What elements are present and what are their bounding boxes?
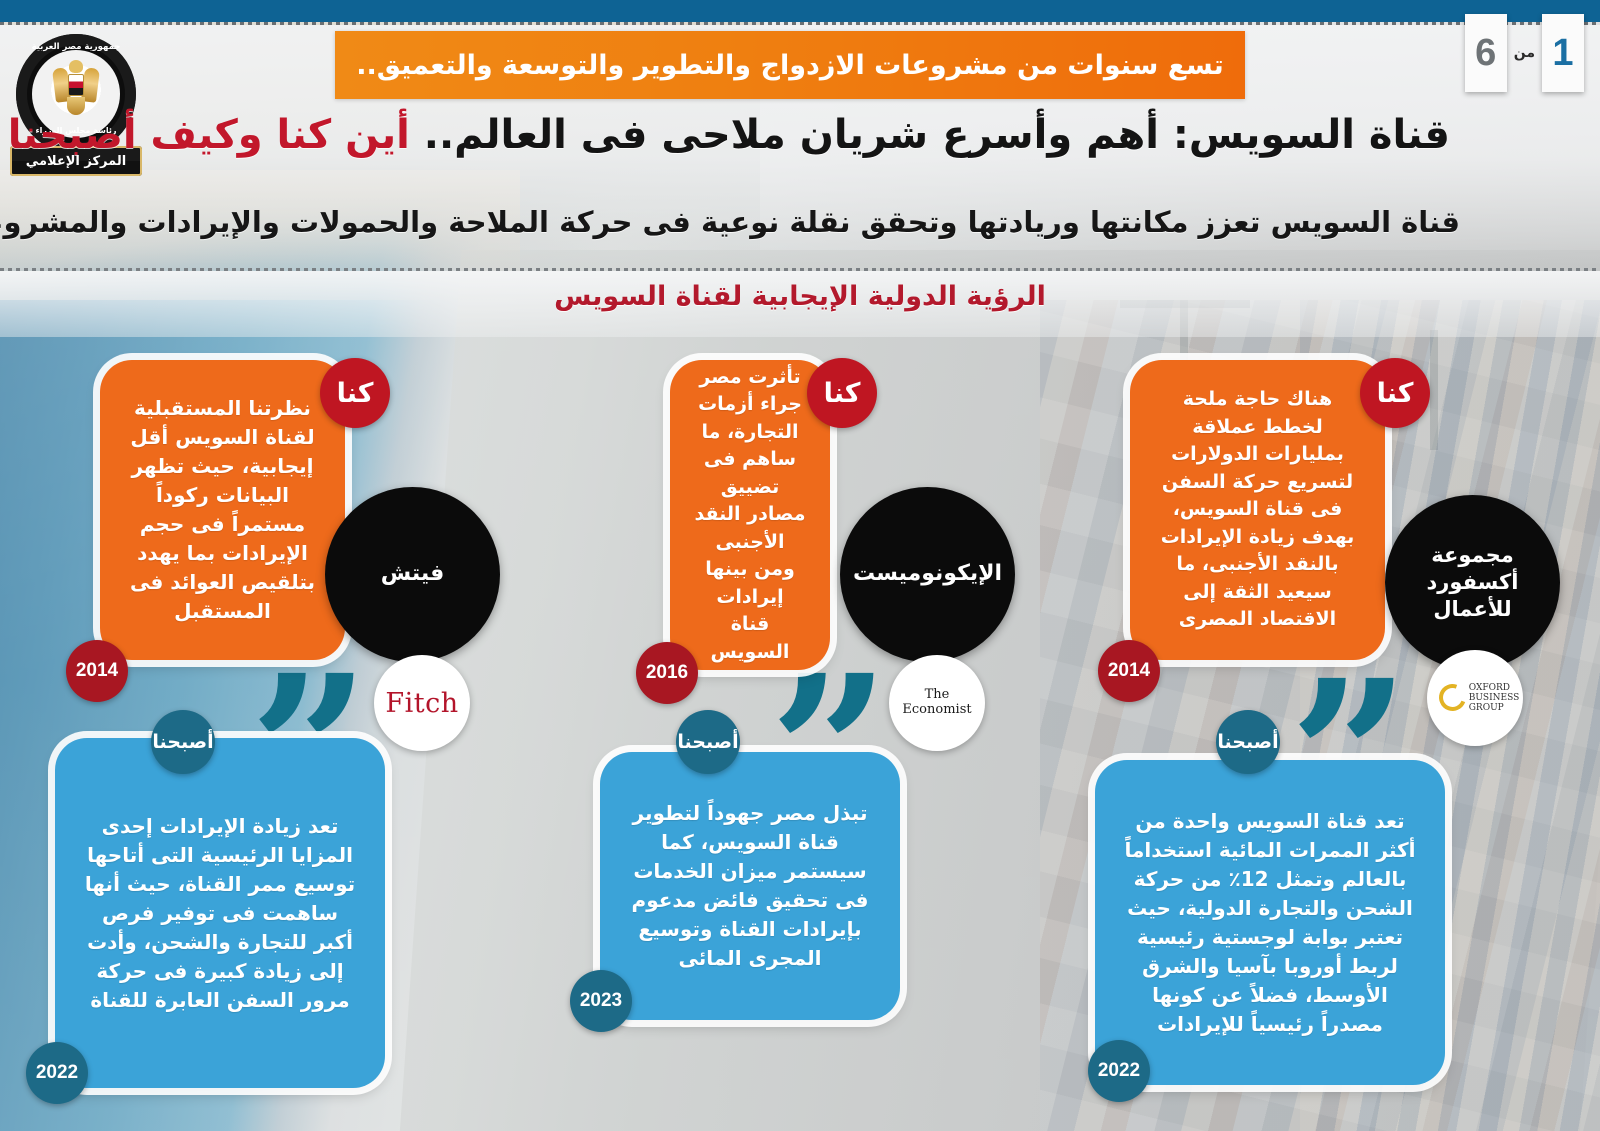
year-before-economist: 2016 [646, 662, 688, 684]
state-pill-before-fitch: كنا [320, 358, 390, 428]
card-before-oxford: هناك حاجة ملحة لخطط عملاقة بمليارات الدو… [1130, 360, 1385, 660]
column-economist: ” الإيكونوميست TheEconomist تأثرت مصر جر… [520, 0, 990, 1131]
card-before-fitch: نظرتنا المستقبلية لقناة السويس أقل إيجاب… [100, 360, 345, 660]
state-pill-after-label-fitch: أصبحنا [152, 731, 213, 753]
state-pill-before-economist: كنا [807, 358, 877, 428]
source-badge-oxford[interactable]: مجموعة أكسفورد للأعمال [1385, 495, 1560, 670]
card-after-text-oxford: تعد قناة السويس واحدة من أكثر الممرات ال… [1119, 807, 1421, 1039]
source-badge-economist[interactable]: الإيكونوميست [840, 487, 1015, 662]
state-pill-before-label-fitch: كنا [337, 378, 374, 409]
card-before-text-fitch: نظرتنا المستقبلية لقناة السويس أقل إيجاب… [124, 394, 321, 626]
logo-bubble-fitch: Fitch [374, 655, 470, 751]
state-pill-after-label-oxford: أصبحنا [1217, 731, 1278, 753]
state-pill-after-fitch: أصبحنا [151, 710, 215, 774]
infographic-page: جمهورية مصر العربية رئاسة مجلس الوزراء ا… [0, 0, 1600, 1131]
card-after-fitch: تعد زيادة الإيرادات إحدى المزايا الرئيسي… [55, 738, 385, 1088]
card-after-oxford: تعد قناة السويس واحدة من أكثر الممرات ال… [1095, 760, 1445, 1085]
year-chip-before-oxford: 2014 [1098, 640, 1160, 702]
oxford-business-group-wordmark: OXFORDBUSINESSGROUP [1439, 683, 1520, 713]
year-chip-before-economist: 2016 [636, 642, 698, 704]
state-pill-before-label-economist: كنا [824, 378, 861, 409]
state-pill-after-label-economist: أصبحنا [677, 731, 738, 753]
year-after-fitch: 2022 [36, 1062, 78, 1084]
card-before-text-economist: تأثرت مصر جراء أزمات التجارة، ما ساهم فى… [694, 364, 806, 667]
year-chip-after-fitch: 2022 [26, 1042, 88, 1104]
column-fitch: ” فيتش Fitch نظرتنا المستقبلية لقناة الس… [10, 0, 480, 1131]
column-oxford: ” مجموعة أكسفورد للأعمال OXFORDBUSINESSG… [1035, 0, 1505, 1131]
state-pill-before-oxford: كنا [1360, 358, 1430, 428]
source-name-oxford: مجموعة أكسفورد للأعمال [1385, 542, 1560, 624]
card-after-economist: تبذل مصر جهوداً لتطوير قناة السويس، كما … [600, 752, 900, 1020]
source-name-economist: الإيكونوميست [843, 560, 1012, 589]
page-current-chip: 1 [1542, 14, 1584, 92]
year-before-fitch: 2014 [76, 660, 118, 682]
fitch-wordmark: Fitch [385, 688, 458, 719]
card-after-text-economist: تبذل مصر جهوداً لتطوير قناة السويس، كما … [624, 799, 876, 973]
logo-bubble-economist: TheEconomist [889, 655, 985, 751]
oxford-ring-icon [1434, 680, 1470, 716]
card-before-text-oxford: هناك حاجة ملحة لخطط عملاقة بمليارات الدو… [1154, 386, 1361, 634]
year-chip-after-oxford: 2022 [1088, 1040, 1150, 1102]
source-badge-fitch[interactable]: فيتش [325, 487, 500, 662]
oxford-text: OXFORDBUSINESSGROUP [1469, 683, 1520, 713]
year-chip-after-economist: 2023 [570, 970, 632, 1032]
state-pill-before-label-oxford: كنا [1377, 378, 1414, 409]
year-chip-before-fitch: 2014 [66, 640, 128, 702]
year-after-oxford: 2022 [1098, 1060, 1140, 1082]
economist-wordmark: TheEconomist [902, 688, 971, 717]
logo-bubble-oxford: OXFORDBUSINESSGROUP [1427, 650, 1523, 746]
state-pill-after-economist: أصبحنا [676, 710, 740, 774]
source-name-fitch: فيتش [371, 560, 454, 589]
state-pill-after-oxford: أصبحنا [1216, 710, 1280, 774]
year-after-economist: 2023 [580, 990, 622, 1012]
year-before-oxford: 2014 [1108, 660, 1150, 682]
page-of-label: من [1511, 45, 1538, 61]
card-after-text-fitch: تعد زيادة الإيرادات إحدى المزايا الرئيسي… [79, 812, 361, 1015]
card-before-economist: تأثرت مصر جراء أزمات التجارة، ما ساهم فى… [670, 360, 830, 670]
